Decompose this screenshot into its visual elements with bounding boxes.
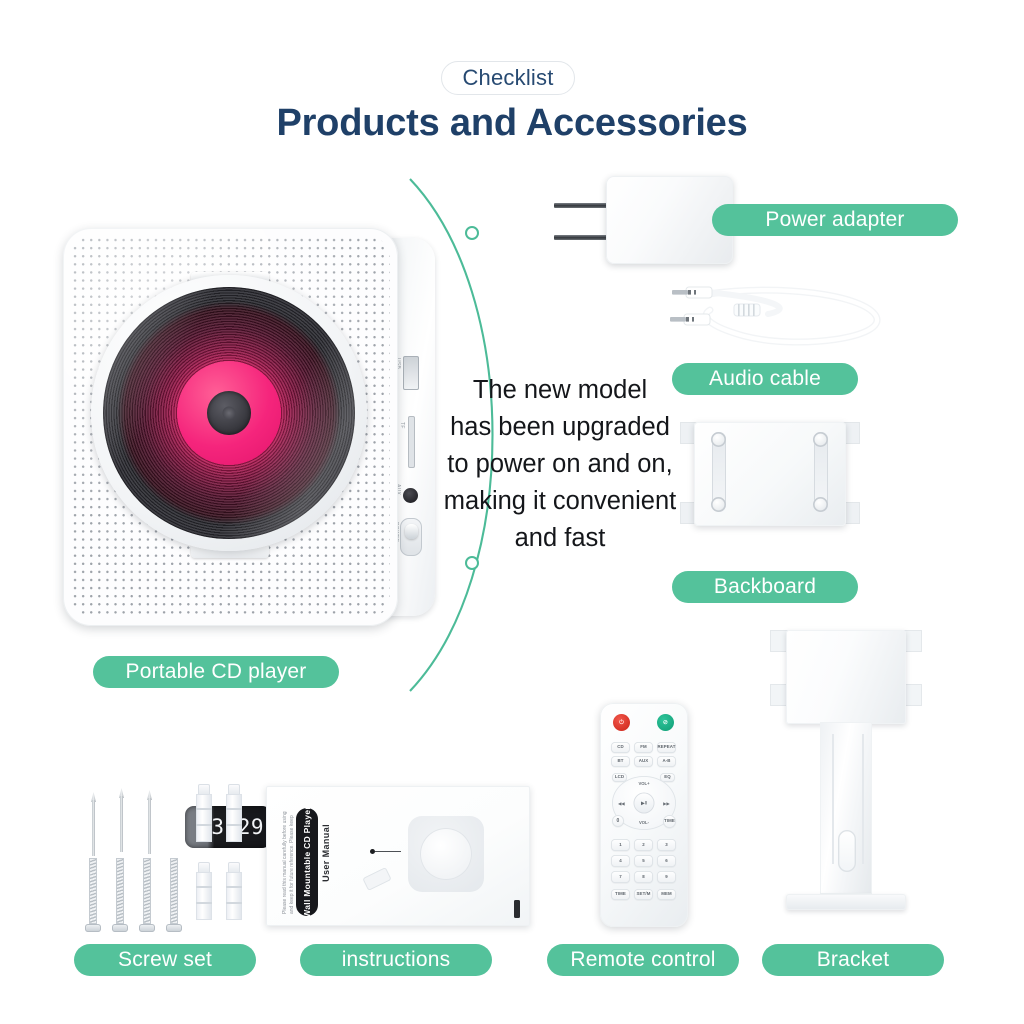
label-power-adapter-text: Power adapter [765,208,904,232]
wall-anchor-1-body [196,794,212,842]
nail-2-shaft [120,796,123,852]
remote-dpad-up[interactable]: VOL+ [633,779,655,788]
manual-callout-line [375,851,401,852]
cd-player-front-face [63,228,398,626]
screw-2-head [112,924,128,932]
checklist-badge: Checklist [441,61,575,95]
wall-anchor-2-body [226,794,242,842]
manual-product-illustration [408,816,484,892]
screw-2-shaft [116,858,124,924]
usb-port-icon [403,356,419,390]
adapter-prong-bottom [554,235,610,240]
product-power-adapter [548,176,733,264]
power-switch-icon [400,518,422,556]
bracket-ear-mid-right [904,684,922,706]
cd-lid-ring [91,275,367,551]
label-power-adapter: Power adapter [712,204,958,236]
backboard-screw-hole-4 [813,497,828,512]
bracket-rib-left [832,734,834,864]
remote-power-button[interactable]: ⏻ [613,714,630,731]
remote-button-cd[interactable]: CD [611,742,630,753]
wall-anchor-2 [226,784,242,842]
remote-dpad-down[interactable]: VOL- [633,818,655,827]
remote-key-7[interactable]: 7 [611,871,630,883]
label-bracket: Bracket [762,944,944,976]
remote-key-2[interactable]: 2 [634,839,653,851]
side-label-tf: TF [399,422,405,429]
manual-title-bar: Wall Mountable CD Player [296,808,318,916]
remote-button-mem[interactable]: MEM [657,889,676,900]
product-instructions-manual: Please read this manual carefully before… [266,786,530,926]
bracket-ear-top-right [904,630,922,652]
remote-button-setm[interactable]: SET/M [634,889,653,900]
blurb-line-2: has been upgraded [432,409,688,446]
product-screw-set [78,782,248,930]
wall-anchor-4-body [226,872,242,920]
label-instructions-text: instructions [342,948,451,972]
remote-dpad-left[interactable]: ◀◀ [615,798,628,808]
manual-bar-title: Wall Mountable CD Player [302,806,312,918]
backboard-screw-hole-2 [813,432,828,447]
wall-anchor-4 [226,862,242,920]
audio-plug-lower [670,314,710,325]
label-portable-cd-player-text: Portable CD player [125,660,306,684]
blurb-line-3: to power on and on, [432,446,688,483]
screw-3 [142,858,152,932]
screw-4 [169,858,179,932]
remote-button-bt[interactable]: BT [611,756,630,767]
label-audio-cable: Audio cable [672,363,858,395]
remote-body: ⏻ ⊘ CD FM REPEAT BT AUX A-B LCD EQ VOL+ … [600,703,688,927]
bracket-foot [786,894,906,910]
backboard-screw-hole-1 [711,432,726,447]
remote-button-ab[interactable]: A-B [657,756,676,767]
bracket-rib-right [862,734,864,864]
product-bracket [758,622,934,928]
remote-key-9[interactable]: 9 [657,871,676,883]
label-screw-set-text: Screw set [118,948,212,972]
cd-disc [103,287,355,539]
screw-3-shaft [143,858,151,924]
label-portable-cd-player: Portable CD player [93,656,339,688]
cable-binder [734,304,760,316]
label-backboard: Backboard [672,571,858,603]
manual-hand-illustration [362,867,392,891]
blurb-line-1: The new model [432,372,688,409]
nail-1-shaft [92,800,95,856]
mute-icon: ⊘ [663,720,668,726]
remote-key-1[interactable]: 1 [611,839,630,851]
cd-disc-hub [207,391,251,435]
remote-button-aux[interactable]: AUX [634,756,653,767]
label-backboard-text: Backboard [714,575,816,599]
remote-button-repeat[interactable]: REPEAT [657,742,676,753]
blurb-line-4: making it convenient [432,483,688,520]
remote-button-time-upper[interactable]: TIME [663,815,676,828]
audio-plug-upper [672,287,712,298]
label-remote-control-text: Remote control [570,948,715,972]
remote-button-zero[interactable]: 0 [612,815,624,827]
manual-cover: Please read this manual carefully before… [266,786,530,926]
label-screw-set: Screw set [74,944,256,976]
manual-side-text: Please read this manual carefully before… [282,810,296,914]
remote-key-6[interactable]: 6 [657,855,676,867]
label-instructions: instructions [300,944,492,976]
checklist-badge-label: Checklist [462,65,553,91]
product-backboard [680,398,860,548]
label-audio-cable-text: Audio cable [709,367,821,391]
manual-heading: User Manual [321,824,331,882]
audio-cable-drawing [648,272,898,360]
arc-node-bottom [466,557,478,569]
remote-key-3[interactable]: 3 [657,839,676,851]
remote-button-time[interactable]: TIME [611,889,630,900]
product-audio-cable [648,272,898,360]
power-icon: ⏻ [619,720,624,726]
promo-blurb: The new model has been upgraded to power… [432,372,688,557]
screw-3-head [139,924,155,932]
wall-anchor-3 [196,862,212,920]
page-title: Products and Accessories [0,102,1024,145]
blurb-line-5: and fast [432,520,688,557]
remote-play-pause-button[interactable]: ▶‖ [634,793,655,814]
backboard-screw-hole-3 [711,497,726,512]
remote-key-8[interactable]: 8 [634,871,653,883]
infographic-canvas: Checklist Products and Accessories The n… [0,0,1024,1024]
wall-anchor-3-body [196,872,212,920]
screw-1 [88,858,98,932]
tf-card-slot-icon [408,416,415,468]
screw-2 [115,858,125,932]
remote-key-5[interactable]: 5 [634,855,653,867]
arc-node-top [466,227,478,239]
screw-4-head [166,924,182,932]
manual-barcode-chip [514,900,520,918]
nail-3-shaft [148,798,151,854]
adapter-prong-top [554,203,610,208]
bracket-cradle [786,630,906,724]
remote-mute-button[interactable]: ⊘ [657,714,674,731]
remote-dpad-right[interactable]: ▶▶ [660,798,673,808]
screw-1-shaft [89,858,97,924]
label-bracket-text: Bracket [817,948,890,972]
product-remote-control: ⏻ ⊘ CD FM REPEAT BT AUX A-B LCD EQ VOL+ … [600,703,688,927]
bracket-keyhole [838,830,856,872]
remote-button-fm[interactable]: FM [634,742,653,753]
wall-anchor-1 [196,784,212,842]
product-portable-cd-player: USB TF AUX POWER 13:29 [63,228,435,626]
screw-4-shaft [170,858,178,924]
remote-key-4[interactable]: 4 [611,855,630,867]
screw-1-head [85,924,101,932]
label-remote-control: Remote control [547,944,739,976]
aux-jack-icon [403,488,418,503]
